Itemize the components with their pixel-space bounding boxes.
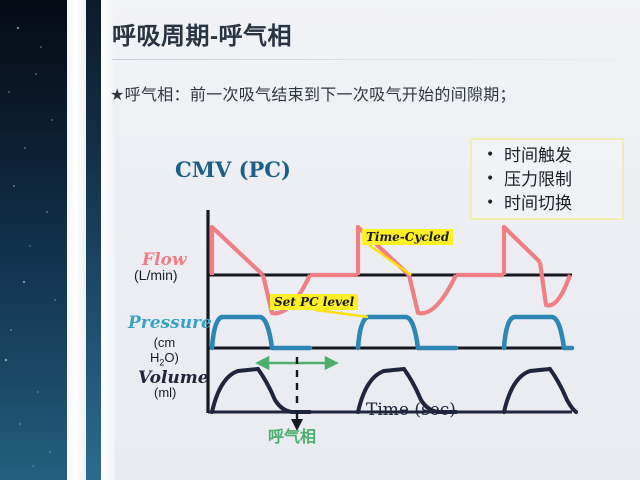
subtitle-text: ★呼气相：前一次吸气结束到下一次吸气开始的间隙期； [110,81,516,105]
waveform-plot [120,145,580,435]
set-pc-level-callout: Set PC level [270,294,358,310]
pressure-waveform [212,317,572,348]
title-divider [112,59,624,60]
time-cycled-callout: Time-Cycled [362,229,453,245]
page-title: 呼吸周期-呼气相 [112,16,292,51]
pressure-axis-unit: (cm H2O) [150,335,179,371]
ventilator-waveform-chart: CMV (PC) [120,145,580,435]
starfield-decor-band [0,0,67,480]
decor-right-edge [101,0,115,480]
slide-canvas: 呼吸周期-呼气相 ★呼气相：前一次吸气结束到下一次吸气开始的间隙期； 时间触发 … [0,0,640,480]
x-axis-label: Time (sec) [366,400,456,420]
volume-axis-unit: (ml) [154,385,176,400]
pressure-axis-label: Pressure [128,313,212,333]
decor-accent-band [86,0,101,480]
decor-gap-band [67,0,86,480]
flow-axis-unit: (L/min) [134,267,178,283]
expiratory-marker-line [291,357,303,431]
expiratory-phase-label: 呼气相 [268,423,316,447]
